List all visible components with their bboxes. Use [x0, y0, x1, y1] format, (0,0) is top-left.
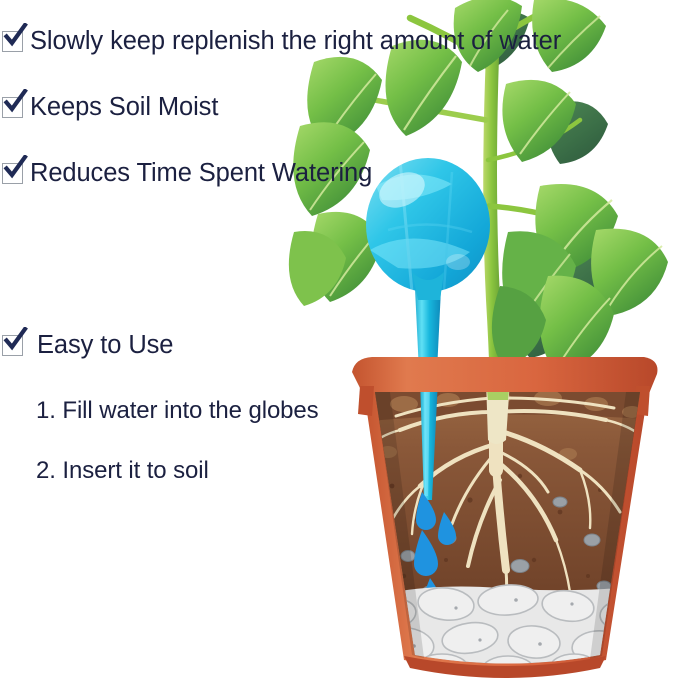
product-infographic: Slowly keep replenish the right amount o… — [0, 0, 679, 679]
benefit-row-2: Keeps Soil Moist — [2, 92, 218, 123]
benefit-row-3: Reduces Time Spent Watering — [2, 158, 372, 189]
benefit-label: Reduces Time Spent Watering — [30, 158, 372, 189]
checkbox-checked-icon — [2, 97, 23, 118]
checkbox-checked-icon — [2, 335, 23, 356]
checkbox-checked-icon — [2, 163, 23, 184]
benefit-label: Keeps Soil Moist — [30, 92, 218, 123]
benefit-label: Slowly keep replenish the right amount o… — [30, 26, 561, 57]
instruction-step-1: 1. Fill water into the globes — [36, 396, 319, 426]
instruction-step-2: 2. Insert it to soil — [36, 456, 209, 486]
feature-text-layer: Slowly keep replenish the right amount o… — [0, 0, 679, 679]
benefit-row-4: Easy to Use — [2, 330, 173, 361]
benefit-row-1: Slowly keep replenish the right amount o… — [2, 26, 561, 57]
benefit-label: Easy to Use — [37, 330, 173, 361]
checkbox-checked-icon — [2, 31, 23, 52]
